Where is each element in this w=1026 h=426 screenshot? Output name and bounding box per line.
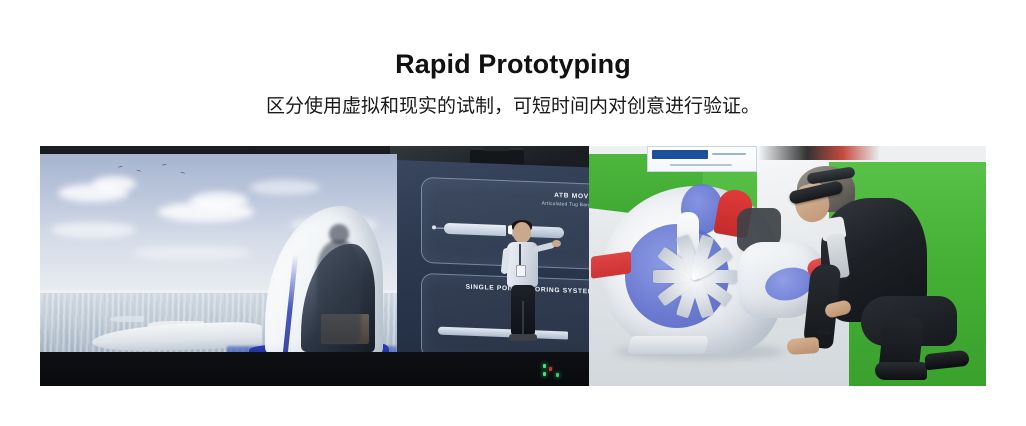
presenter-legs [511,285,535,335]
banner-headline-bar [652,150,708,159]
user-shoe [924,350,969,371]
turbocharger-impeller [651,230,747,322]
distant-vessel [110,316,144,322]
projection-screen-main [40,154,397,368]
presenter-shoes [509,334,537,341]
figure-ar-hololens-turbocharger [589,146,986,386]
banner-text-line [712,153,746,155]
vr-room-photo: ATB MOVE Articulated Tug Barge SINGLE PO… [40,146,589,386]
floor-led-indicator [556,373,559,377]
ar-headset-user [785,156,975,386]
figure-vr-projection-room: ATB MOVE Articulated Tug Barge SINGLE PO… [40,146,589,386]
figure-row: ATB MOVE Articulated Tug Barge SINGLE PO… [40,146,986,386]
heading-block: Rapid Prototyping 区分使用虚拟和现实的试制，可短时间内对创意进… [0,0,1026,119]
presenter-badge [516,265,526,277]
presenter-figure [500,222,546,344]
panel-connector-line [436,227,444,228]
bird-icon [118,166,124,171]
presenter-lanyard [519,244,521,266]
bird-icon [162,164,168,169]
slide-root: Rapid Prototyping 区分使用虚拟和现实的试制，可短时间内对创意进… [0,0,1026,426]
presenter-shadow [317,240,361,344]
user-hand [786,337,819,355]
background-banner-sign [647,146,757,172]
bird-icon [136,170,142,175]
bird-icon [180,172,186,177]
projection-screen-right: ATB MOVE Articulated Tug Barge SINGLE PO… [397,160,589,375]
banner-text-line [670,164,732,166]
floor-led-indicator [543,372,546,376]
page-title: Rapid Prototyping [0,0,1026,80]
studio-floor [40,352,589,386]
page-subtitle: 区分使用虚拟和现实的试制，可短时间内对创意进行验证。 [0,80,1026,119]
floor-led-indicator [543,364,546,368]
floor-led-indicator [549,367,552,371]
user-shoe [875,362,927,380]
ar-demo-photo [589,146,986,386]
turbocharger-mounting-foot [627,336,709,354]
presenter-head [513,222,531,243]
presenter-right-hand [552,240,561,247]
panel-vessel-graphic [444,223,506,236]
